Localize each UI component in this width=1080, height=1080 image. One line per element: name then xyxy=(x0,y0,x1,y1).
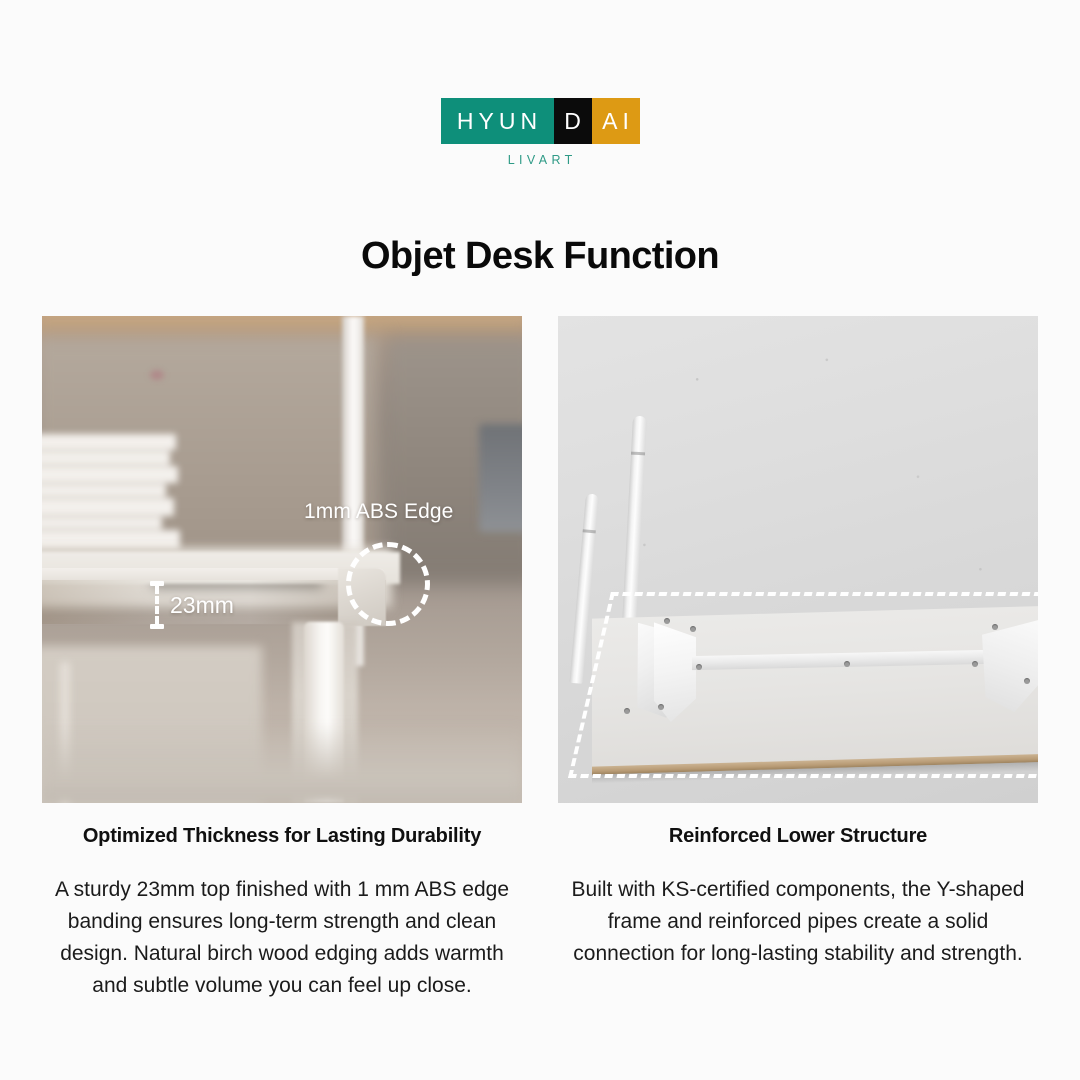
abs-edge-band xyxy=(42,568,386,580)
caption-body-structure: Built with KS-certified components, the … xyxy=(558,874,1038,970)
logo-segment-teal: HYUN xyxy=(441,98,554,144)
annotation-abs-edge-label: 1mm ABS Edge xyxy=(304,500,453,524)
logo-segment-gold: AI xyxy=(592,98,640,144)
shelf-wood-trim xyxy=(42,316,522,332)
stacked-books-blur xyxy=(42,434,184,564)
logo-segment-black: D xyxy=(554,98,592,144)
logo-sub-label: LIVART xyxy=(503,153,576,167)
brand-logo: HYUN D AI LIVART xyxy=(0,98,1080,167)
photo-desk-underside xyxy=(558,316,1038,803)
measure-cap-bottom xyxy=(150,624,164,629)
feature-columns: 1mm ABS Edge 23mm Optimized Thickness fo… xyxy=(42,316,1038,1002)
background-dark-object xyxy=(479,424,522,532)
caption-title-thickness: Optimized Thickness for Lasting Durabili… xyxy=(42,825,522,848)
annotation-dashed-circle xyxy=(346,542,430,626)
book-accent-dot xyxy=(150,370,164,380)
feature-column-structure: Reinforced Lower Structure Built with KS… xyxy=(558,316,1038,1002)
floor-blur xyxy=(42,723,522,803)
caption-body-thickness: A sturdy 23mm top finished with 1 mm ABS… xyxy=(42,874,522,1002)
annotation-measure-marker xyxy=(150,581,164,629)
page-title: Objet Desk Function xyxy=(0,235,1080,278)
measure-dashed-stem xyxy=(155,586,159,624)
annotation-dashed-frame-outline xyxy=(568,592,1038,778)
annotation-thickness-label: 23mm xyxy=(170,592,234,619)
caption-title-structure: Reinforced Lower Structure xyxy=(558,825,1038,848)
logo-wordmark: HYUN D AI xyxy=(441,98,640,144)
photo-desk-edge-macro: 1mm ABS Edge 23mm xyxy=(42,316,522,803)
feature-column-thickness: 1mm ABS Edge 23mm Optimized Thickness fo… xyxy=(42,316,522,1002)
